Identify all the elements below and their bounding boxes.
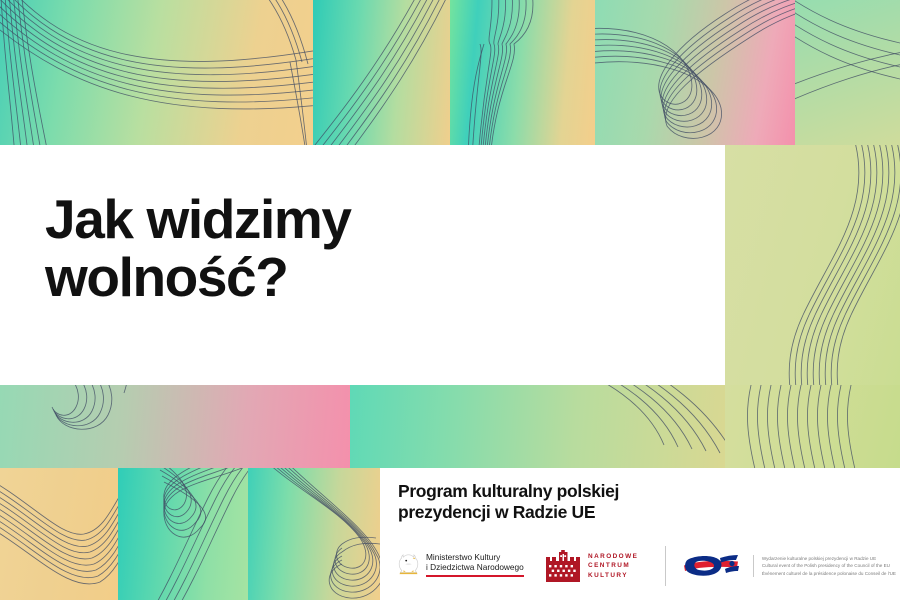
ministry-line-2: i Dziedzictwa Narodowego: [426, 562, 524, 572]
program-line-2: prezydencji w Radzie UE: [398, 502, 619, 523]
program-subtitle: Program kulturalny polskiej prezydencji …: [398, 481, 619, 523]
decorative-tile-band-3: [725, 385, 900, 468]
polish-eagle-icon: [396, 551, 421, 581]
line-pattern: [118, 468, 248, 600]
nck-logo-text: NARODOWE CENTRUM KULTURY: [588, 552, 638, 581]
line-pattern: [450, 0, 595, 145]
logo-row: Ministerstwo Kultury i Dziedzictwa Narod…: [396, 540, 896, 592]
poster-title: Jak widzimy wolność?: [45, 190, 685, 306]
decorative-tile-bottom-2: [118, 468, 248, 600]
decorative-tile-bottom-3: [248, 468, 380, 600]
decorative-tile-band-2: [350, 385, 725, 468]
line-pattern: [0, 468, 118, 600]
ministry-red-rule: [426, 575, 524, 577]
line-pattern: [248, 468, 380, 600]
logo-divider-1: [665, 546, 666, 586]
nck-logo: NARODOWE CENTRUM KULTURY: [546, 550, 649, 582]
ministry-line-1: Ministerstwo Kultury: [426, 552, 524, 562]
line-pattern: [0, 385, 350, 468]
line-pattern: [725, 385, 900, 468]
ministry-logo-text: Ministerstwo Kultury i Dziedzictwa Narod…: [426, 551, 524, 577]
title-line-2: wolność?: [45, 248, 685, 306]
castle-icon: [546, 550, 580, 582]
footer-block: Program kulturalny polskiej prezydencji …: [380, 468, 900, 600]
eu-presidency-logo: Wydarzenie kulturalne polskiej prezydenc…: [680, 549, 896, 583]
decorative-tile-top-1: [0, 0, 313, 145]
line-pattern: [350, 385, 725, 468]
poster-canvas: Jak widzimy wolność? Program kulturalny …: [0, 0, 900, 600]
nck-line-2: CENTRUM: [588, 561, 638, 571]
title-line-1: Jak widzimy: [45, 190, 685, 248]
decorative-tile-top-4: [595, 0, 795, 145]
line-pattern: [313, 0, 450, 145]
eu-presidency-caption: Wydarzenie kulturalne polskiej prezydenc…: [753, 555, 896, 577]
decorative-tile-top-2: [313, 0, 450, 145]
nck-line-1: NARODOWE: [588, 552, 638, 562]
nck-line-3: KULTURY: [588, 571, 638, 581]
program-line-1: Program kulturalny polskiej: [398, 481, 619, 502]
line-pattern: [725, 145, 900, 385]
eu-caption-en: Cultural event of the Polish presidency …: [762, 562, 896, 569]
decorative-tile-top-5: [795, 0, 900, 145]
decorative-tile-bottom-1: [0, 468, 118, 600]
ministry-of-culture-logo: Ministerstwo Kultury i Dziedzictwa Narod…: [396, 551, 524, 581]
eu-caption-fr: Événement culturel de la présidence polo…: [762, 570, 896, 577]
eu-caption-pl: Wydarzenie kulturalne polskiej prezydenc…: [762, 555, 896, 562]
polish-eu-presidency-icon: [680, 549, 742, 583]
line-pattern: [0, 0, 313, 145]
decorative-tile-band-1: [0, 385, 350, 468]
decorative-tile-mid-right: [725, 145, 900, 385]
decorative-tile-top-3: [450, 0, 595, 145]
line-pattern: [595, 0, 795, 145]
line-pattern: [795, 0, 900, 145]
